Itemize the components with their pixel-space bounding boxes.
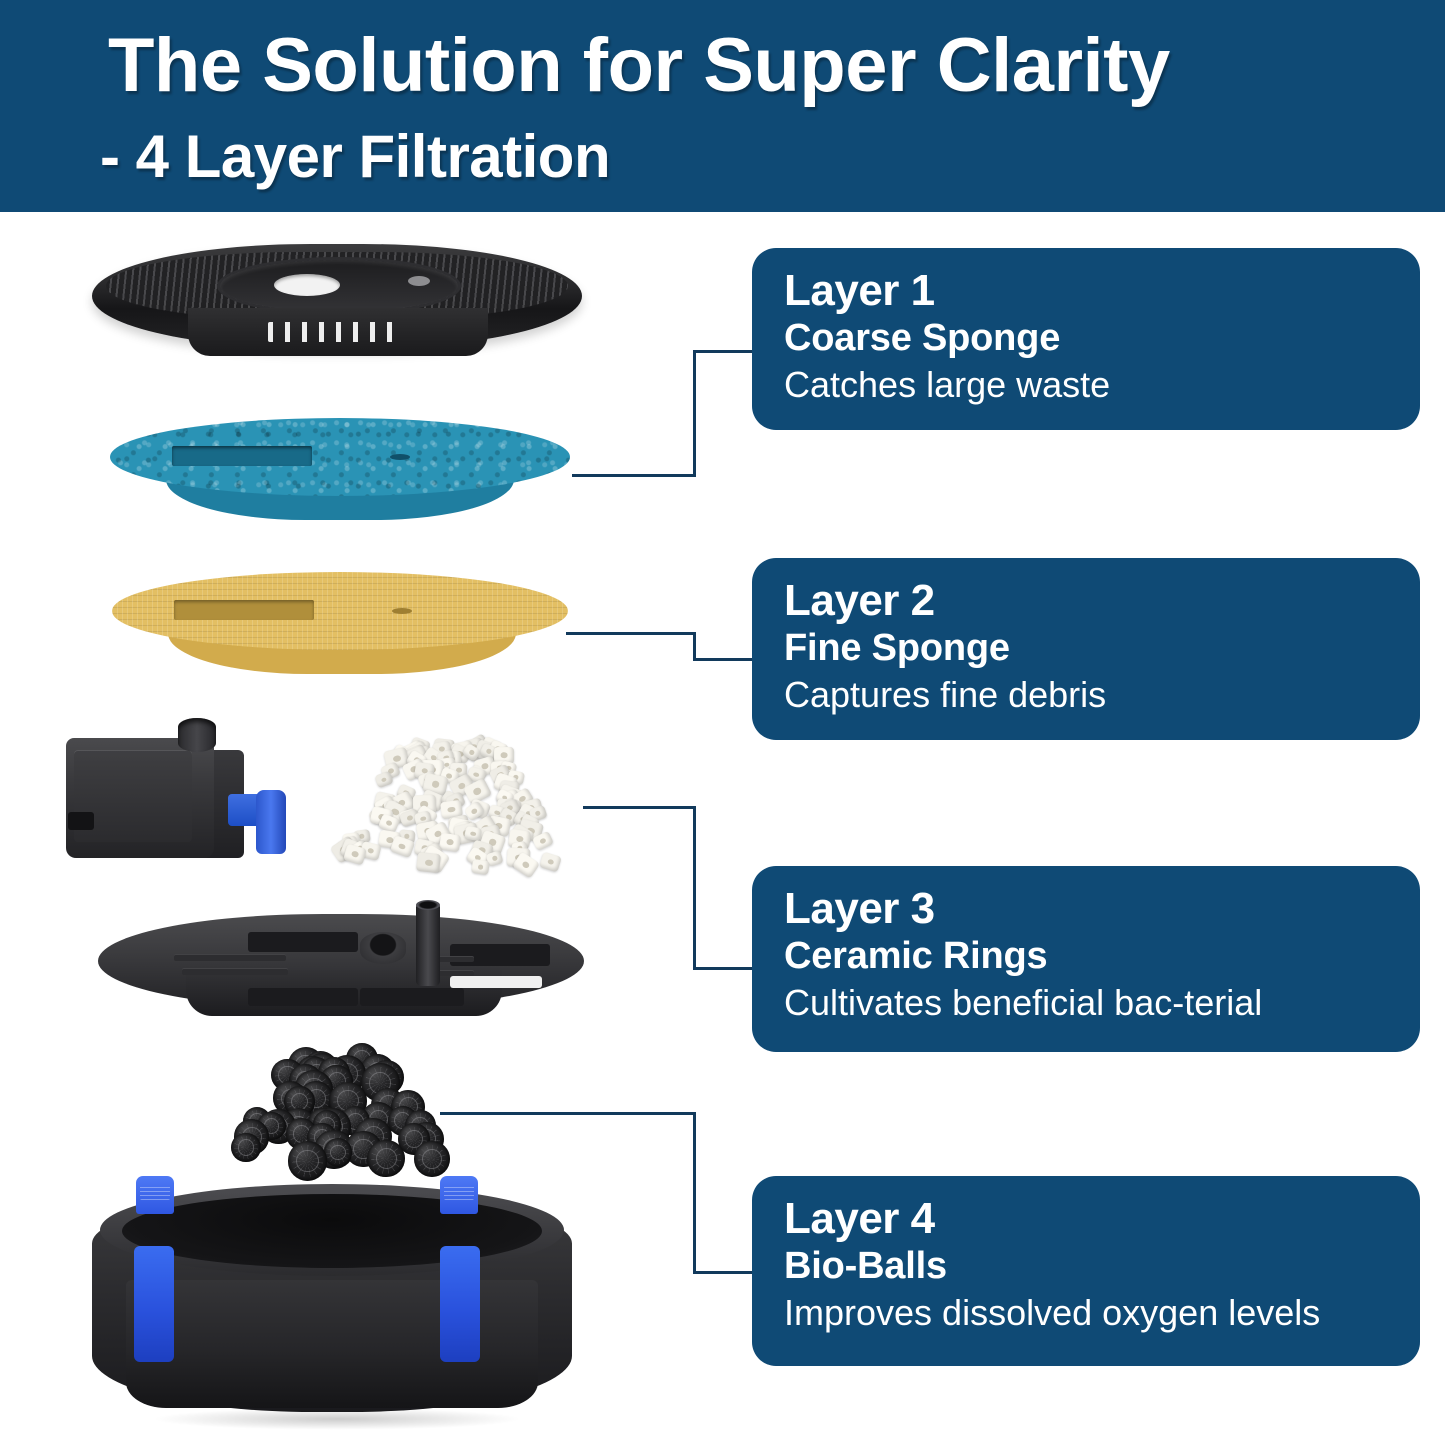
base-plate-socket <box>360 932 406 964</box>
bio-ball <box>231 1133 260 1162</box>
callout-2-description: Captures fine debris <box>784 674 1420 715</box>
lid-vent-slots <box>268 322 400 342</box>
callout-3-layer-label: Layer 3 <box>784 886 1420 933</box>
callout-layer-1[interactable]: Layer 1 Coarse Sponge Catches large wast… <box>752 248 1420 430</box>
callout-3-description: Cultivates beneficial bac-terial <box>784 982 1420 1023</box>
ceramic-ring <box>471 858 490 874</box>
housing-clip-front-right <box>440 1246 480 1362</box>
lid-center-hole <box>274 274 340 296</box>
base-plate-riser-pipe <box>416 902 440 986</box>
callout-2-name: Fine Sponge <box>784 627 1420 671</box>
callout-1-name: Coarse Sponge <box>784 317 1420 361</box>
base-plate-panel-c <box>360 988 464 1006</box>
housing-clip-back-left <box>136 1176 174 1214</box>
bio-ball <box>324 1138 352 1166</box>
pump-elbow-vertical <box>256 790 286 854</box>
callout-layer-4[interactable]: Layer 4 Bio-Balls Improves dissolved oxy… <box>752 1176 1420 1366</box>
base-plate-riser-opening <box>416 900 440 910</box>
base-plate-panel-d <box>450 944 550 966</box>
fine-sponge-pin-hole <box>392 608 412 614</box>
callout-2-layer-label: Layer 2 <box>784 578 1420 625</box>
callout-1-layer-label: Layer 1 <box>784 268 1420 315</box>
base-plate-panel-b <box>248 988 358 1006</box>
ceramic-ring <box>416 852 441 874</box>
housing-clip-back-right <box>440 1176 478 1214</box>
callout-layer-2[interactable]: Layer 2 Fine Sponge Captures fine debris <box>752 558 1420 740</box>
page-title-line1: The Solution for Super Clarity <box>108 22 1170 109</box>
callout-1-description: Catches large waste <box>784 364 1420 405</box>
base-plate-white-slot <box>450 976 542 988</box>
base-plate-rail-a <box>174 954 286 961</box>
coarse-sponge-pin-hole <box>390 454 410 460</box>
callout-layer-3[interactable]: Layer 3 Ceramic Rings Cultivates benefic… <box>752 866 1420 1052</box>
callout-4-description: Improves dissolved oxygen levels <box>784 1292 1420 1333</box>
clip-grip-icon <box>140 1184 170 1200</box>
bio-balls-illustration <box>228 1036 444 1178</box>
ceramic-ring <box>439 833 462 852</box>
top-lid-illustration <box>92 236 582 364</box>
ceramic-ring <box>539 851 562 872</box>
lid-indicator-dot <box>408 276 430 286</box>
base-plate-rail-b <box>182 968 288 975</box>
clip-grip-icon <box>444 1184 474 1200</box>
callout-4-name: Bio-Balls <box>784 1245 1420 1289</box>
header-banner: The Solution for Super Clarity - 4 Layer… <box>0 0 1445 212</box>
fine-sponge-illustration <box>112 572 568 688</box>
infographic-canvas: The Solution for Super Clarity - 4 Layer… <box>0 0 1445 1445</box>
bottom-housing-illustration <box>92 1176 572 1438</box>
base-plate-panel-a <box>248 932 358 952</box>
housing-ground-shadow <box>152 1408 522 1430</box>
ceramic-rings-illustration <box>328 726 576 884</box>
pump-side-clip <box>68 812 94 830</box>
callout-4-layer-label: Layer 4 <box>784 1196 1420 1243</box>
page-title-line2: - 4 Layer Filtration <box>100 122 610 191</box>
fine-sponge-slot <box>174 600 314 620</box>
bio-ball <box>288 1141 328 1181</box>
coarse-sponge-illustration <box>110 418 570 534</box>
water-pump-illustration <box>60 716 285 864</box>
housing-clip-front-left <box>134 1246 174 1362</box>
coarse-sponge-slot <box>172 446 312 466</box>
callout-3-name: Ceramic Rings <box>784 935 1420 979</box>
base-plate-illustration <box>98 900 584 1026</box>
pump-top-inlet <box>178 718 216 752</box>
bio-ball <box>414 1141 450 1177</box>
bio-ball <box>367 1140 405 1178</box>
